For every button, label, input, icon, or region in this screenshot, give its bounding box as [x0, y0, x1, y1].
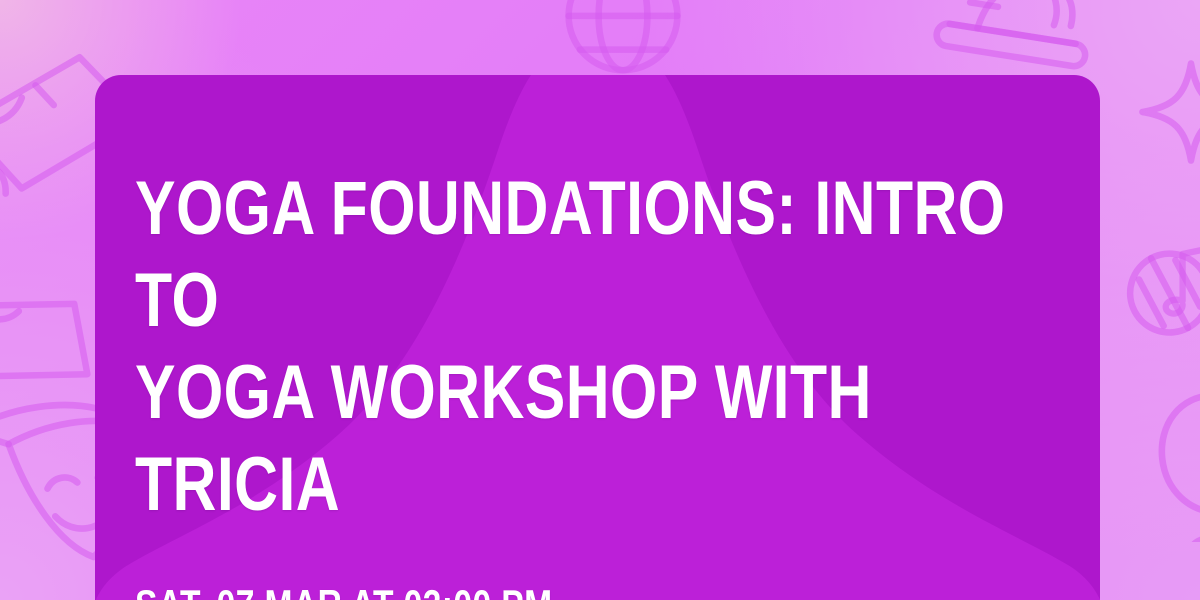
- event-card-content: Yoga Foundations: Intro to Yoga Workshop…: [135, 75, 1060, 600]
- event-banner: Yoga Foundations: Intro to Yoga Workshop…: [0, 0, 1200, 600]
- music-note-icon: [1152, 236, 1200, 326]
- event-title: Yoga Foundations: Intro to Yoga Workshop…: [135, 163, 1060, 531]
- event-datetime: Sat, 07 Mar at 02:00 PM: [135, 581, 1060, 600]
- balloon-icon: [1145, 382, 1200, 542]
- sparkle-star-icon: [1135, 56, 1200, 168]
- event-card: Yoga Foundations: Intro to Yoga Workshop…: [95, 75, 1100, 600]
